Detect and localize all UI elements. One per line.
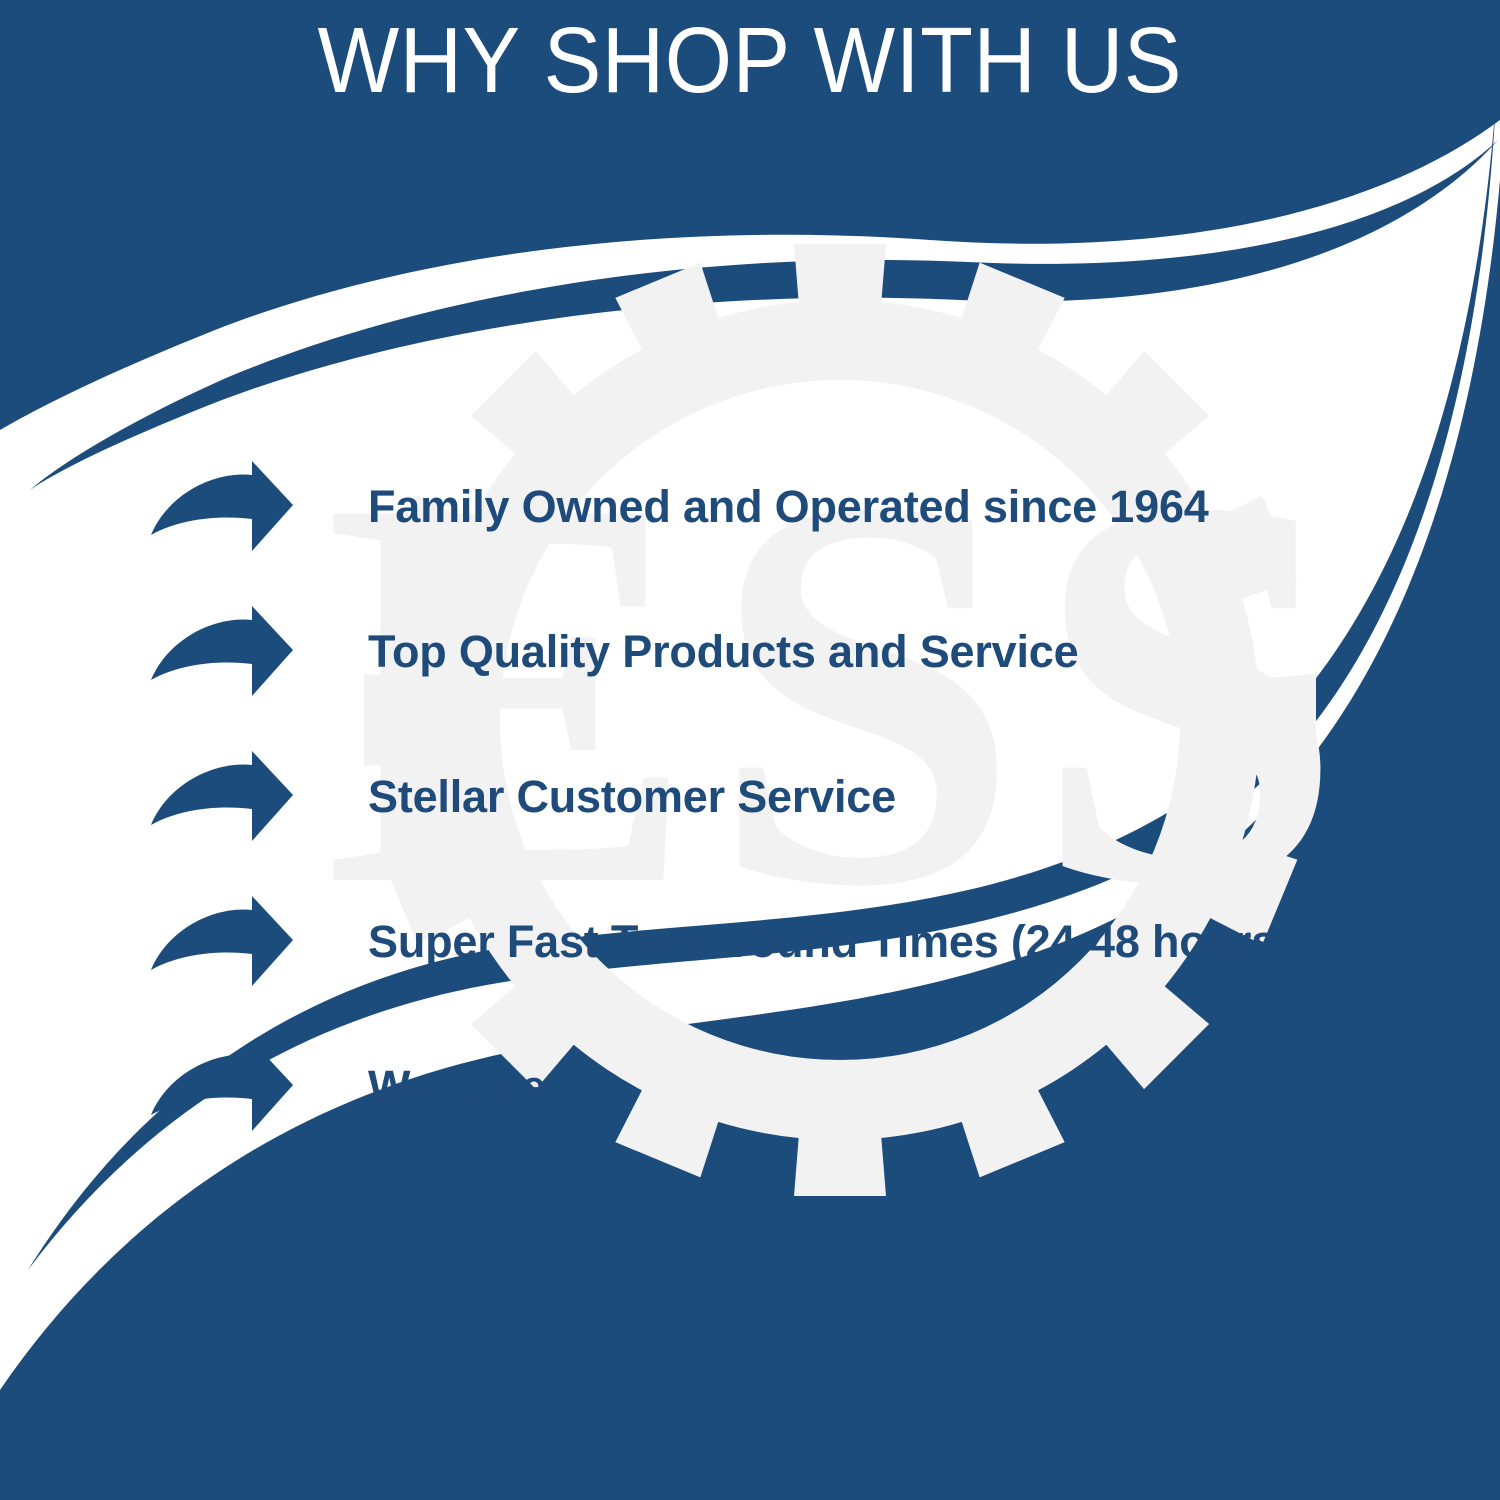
list-item: Super Fast Turnaround Times (24-48 hours… <box>148 869 1448 1014</box>
list-item: We Care <box>148 1014 1448 1159</box>
curved-arrow-right-icon <box>148 751 296 843</box>
list-item: Stellar Customer Service <box>148 724 1448 869</box>
benefit-label: Super Fast Turnaround Times (24-48 hours… <box>368 916 1291 968</box>
benefits-list: Family Owned and Operated since 1964 Top… <box>148 434 1448 1159</box>
benefit-label: We Care <box>368 1061 546 1113</box>
benefit-label: Stellar Customer Service <box>368 771 896 823</box>
list-item: Top Quality Products and Service <box>148 579 1448 724</box>
curved-arrow-right-icon <box>148 461 296 553</box>
curved-arrow-right-icon <box>148 606 296 698</box>
benefit-label: Family Owned and Operated since 1964 <box>368 481 1209 533</box>
curved-arrow-right-icon <box>148 896 296 988</box>
why-shop-with-us-poster: ESS WHY SHOP WITH US Family Owned and Op… <box>0 0 1500 1500</box>
header-band: WHY SHOP WITH US <box>0 0 1500 150</box>
curved-arrow-right-icon <box>148 1041 296 1133</box>
page-title: WHY SHOP WITH US <box>318 12 1182 110</box>
benefit-label: Top Quality Products and Service <box>368 626 1078 678</box>
list-item: Family Owned and Operated since 1964 <box>148 434 1448 579</box>
